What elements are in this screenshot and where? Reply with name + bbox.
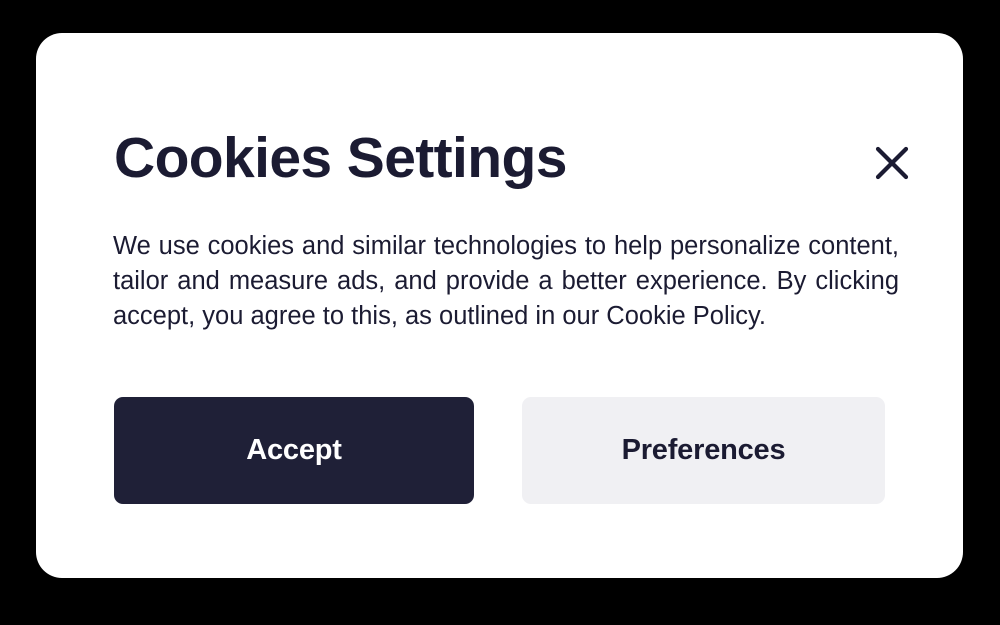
screen-background: Cookies Settings We use cookies and simi… (0, 0, 1000, 625)
close-icon (874, 145, 910, 181)
page-title: Cookies Settings (114, 129, 567, 189)
cookie-consent-dialog: Cookies Settings We use cookies and simi… (36, 33, 963, 578)
close-button[interactable] (862, 133, 922, 193)
preferences-button[interactable]: Preferences (522, 397, 885, 504)
dialog-description: We use cookies and similar technologies … (113, 229, 899, 334)
accept-button[interactable]: Accept (114, 397, 474, 504)
dialog-header: Cookies Settings (36, 33, 963, 183)
dialog-action-bar: Accept Preferences (114, 397, 885, 504)
